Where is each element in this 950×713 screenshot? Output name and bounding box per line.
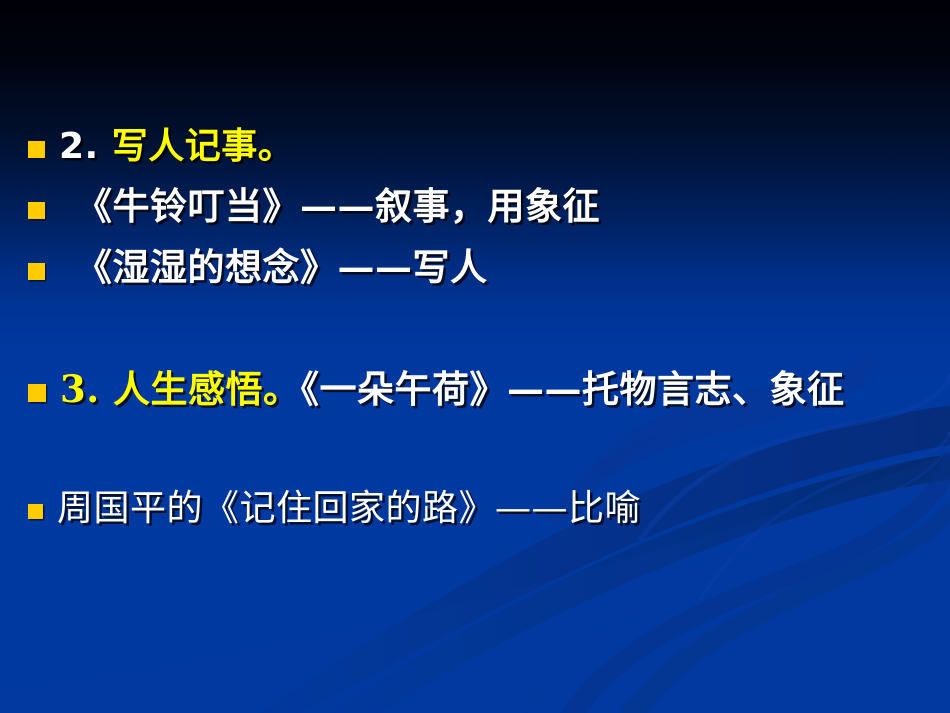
line-1-title: 写人记事。 — [99, 126, 295, 167]
line-1-number: 2. — [59, 126, 99, 167]
line-1-text: 2. 写人记事。 — [45, 126, 950, 168]
line-4-heading: 3. 人生感悟。 — [60, 367, 301, 411]
line-2-text: 《牛铃叮当》——叙事，用象征 — [45, 185, 950, 229]
bullet-square-icon — [28, 384, 46, 402]
line-4-body: 《一朵午荷》——托物言志、象征 — [301, 367, 845, 411]
slide-content: 2. 写人记事。 《牛铃叮当》——叙事，用象征 《湿湿的想念》——写人 3. 人… — [0, 0, 950, 713]
bullet-square-icon — [28, 141, 45, 158]
bullet-line-2: 《牛铃叮当》——叙事，用象征 — [0, 185, 950, 229]
bullet-square-icon — [28, 263, 45, 280]
bullet-line-1: 2. 写人记事。 — [0, 126, 950, 168]
bullet-line-4: 3. 人生感悟。《一朵午荷》——托物言志、象征 — [0, 368, 950, 412]
bullet-line-3: 《湿湿的想念》——写人 — [0, 246, 950, 290]
slide-canvas: 2. 写人记事。 《牛铃叮当》——叙事，用象征 《湿湿的想念》——写人 3. 人… — [0, 0, 950, 713]
line-5-text: 周国平的《记住回家的路》——比喻 — [43, 488, 950, 530]
line-3-text: 《湿湿的想念》——写人 — [45, 246, 950, 290]
line-4-text: 3. 人生感悟。《一朵午荷》——托物言志、象征 — [46, 368, 940, 412]
bullet-square-icon — [28, 504, 43, 519]
bullet-square-icon — [28, 202, 45, 219]
bullet-line-5: 周国平的《记住回家的路》——比喻 — [0, 488, 950, 530]
